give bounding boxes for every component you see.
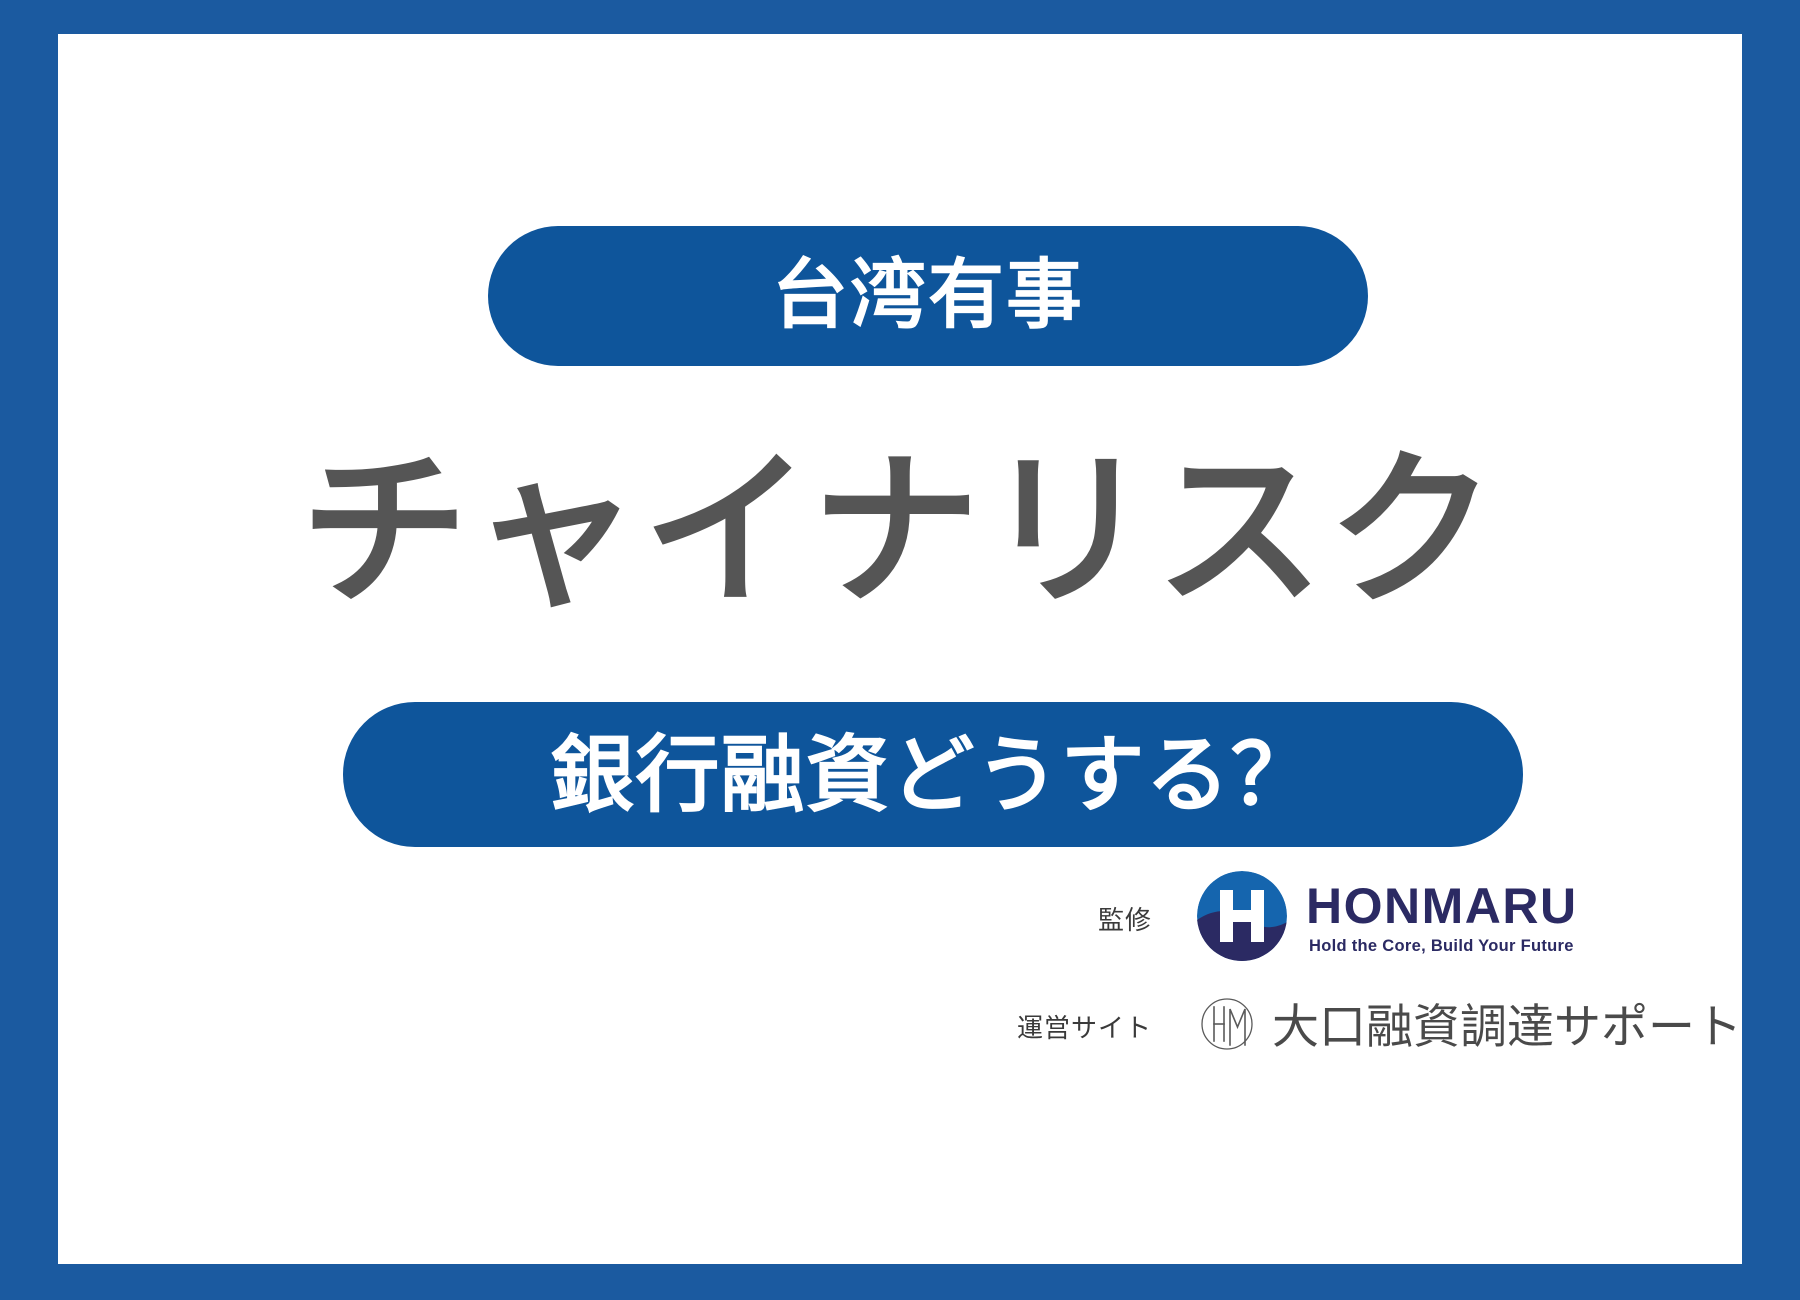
top-badge: 台湾有事 — [488, 226, 1368, 366]
site-logo: 大口融資調達サポート — [1196, 993, 1674, 1060]
honmaru-logo: HONMARU Hold the Core, Build Your Future — [1196, 870, 1674, 967]
honmaru-h-circle-icon — [1196, 870, 1288, 967]
bottom-badge: 銀行融資どうする？ — [343, 702, 1523, 847]
top-badge-label: 台湾有事 — [772, 258, 1084, 334]
honmaru-tagline: Hold the Core, Build Your Future — [1309, 938, 1578, 955]
bottom-badge-label: 銀行融資どうする？ — [550, 733, 1315, 817]
credits-block: 監修 — [954, 864, 1674, 1080]
site-name: 大口融資調達サポート — [1272, 1003, 1742, 1050]
credit-row-supervisor: 監修 — [954, 864, 1674, 972]
honmaru-wordmark: HONMARU Hold the Core, Build Your Future — [1306, 881, 1578, 955]
slide-canvas: 台湾有事 チャイナリスク 銀行融資どうする？ 監修 — [58, 34, 1742, 1264]
hm-monogram-icon — [1196, 993, 1258, 1060]
site-label: 運営サイト — [1017, 1008, 1152, 1045]
page-title: チャイナリスク — [58, 439, 1742, 624]
honmaru-name: HONMARU — [1306, 881, 1578, 931]
credit-row-site: 運営サイト 大口融資調達サポート — [954, 972, 1674, 1080]
slide-frame: 台湾有事 チャイナリスク 銀行融資どうする？ 監修 — [0, 0, 1800, 1300]
supervisor-label: 監修 — [1098, 900, 1152, 937]
